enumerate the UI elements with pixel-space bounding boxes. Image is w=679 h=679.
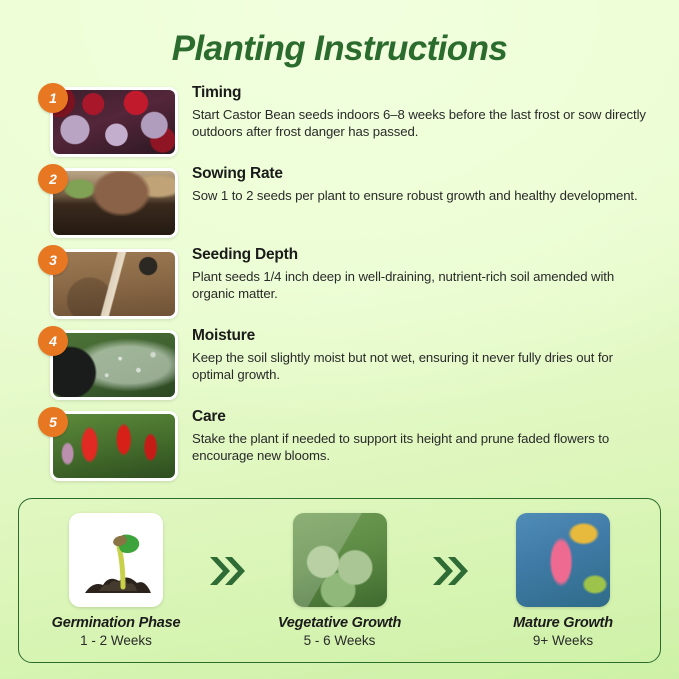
step-thumbnail-wrap-1: 1 (38, 87, 178, 157)
step-item-1: 1 Timing Start Castor Bean seeds indoors… (38, 83, 657, 157)
step-badge-4: 4 (38, 326, 68, 356)
step-heading-3: Seeding Depth (192, 246, 657, 264)
green-castor-leaves-photo (293, 513, 387, 607)
step-heading-2: Sowing Rate (192, 165, 657, 183)
step-thumbnail-wrap-3: 3 (38, 249, 178, 319)
step-text-3: Seeding Depth Plant seeds 1/4 inch deep … (192, 245, 657, 303)
step-badge-2: 2 (38, 164, 68, 194)
step-body-4: Keep the soil slightly moist but not wet… (192, 349, 657, 384)
step-thumbnail-5 (50, 411, 178, 481)
step-text-1: Timing Start Castor Bean seeds indoors 6… (192, 83, 657, 141)
step-body-1: Start Castor Bean seeds indoors 6–8 week… (192, 106, 657, 141)
step-badge-5: 5 (38, 407, 68, 437)
step-item-3: 3 Seeding Depth Plant seeds 1/4 inch dee… (38, 245, 657, 319)
step-text-5: Care Stake the plant if needed to suppor… (192, 407, 657, 465)
step-heading-4: Moisture (192, 327, 657, 345)
timeline-phase-name-1: Germination Phase (33, 614, 199, 632)
timeline-phase-name-2: Vegetative Growth (257, 614, 423, 632)
step-text-2: Sowing Rate Sow 1 to 2 seeds per plant t… (192, 164, 657, 205)
timeline-phase-name-3: Mature Growth (480, 614, 646, 632)
rake-in-soil-photo (53, 252, 175, 316)
step-thumbnail-wrap-2: 2 (38, 168, 178, 238)
timeline-phase-duration-3: 9+ Weeks (480, 633, 646, 650)
sprouting-seedling-photo (69, 513, 163, 607)
red-castor-flowers-photo (53, 414, 175, 478)
timeline-phase-duration-1: 1 - 2 Weeks (33, 633, 199, 650)
castor-bean-foliage-photo (53, 90, 175, 154)
step-text-4: Moisture Keep the soil slightly moist bu… (192, 326, 657, 384)
timeline-phase-2: Vegetative Growth 5 - 6 Weeks (257, 513, 423, 650)
timeline-phase-3: Mature Growth 9+ Weeks (480, 513, 646, 650)
step-badge-1: 1 (38, 83, 68, 113)
step-heading-5: Care (192, 408, 657, 426)
step-thumbnail-4 (50, 330, 178, 400)
step-thumbnail-3 (50, 249, 178, 319)
double-chevron-right-icon-1 (205, 554, 251, 588)
step-thumbnail-wrap-5: 5 (38, 411, 178, 481)
mature-castor-bloom-photo (516, 513, 610, 607)
hand-sowing-seed-photo (53, 171, 175, 235)
step-heading-1: Timing (192, 84, 657, 102)
step-item-4: 4 Moisture Keep the soil slightly moist … (38, 326, 657, 400)
step-body-5: Stake the plant if needed to support its… (192, 430, 657, 465)
timeline-phase-1: Germination Phase 1 - 2 Weeks (33, 513, 199, 650)
timeline-phase-duration-2: 5 - 6 Weeks (257, 633, 423, 650)
step-thumbnail-wrap-4: 4 (38, 330, 178, 400)
growth-timeline-panel: Germination Phase 1 - 2 Weeks Vegetative… (18, 498, 661, 663)
step-body-3: Plant seeds 1/4 inch deep in well-draini… (192, 268, 657, 303)
step-item-5: 5 Care Stake the plant if needed to supp… (38, 407, 657, 481)
sprinkler-watering-photo (53, 333, 175, 397)
step-item-2: 2 Sowing Rate Sow 1 to 2 seeds per plant… (38, 164, 657, 238)
planting-instructions-infographic: Planting Instructions 1 Timing Start Cas… (0, 0, 679, 679)
page-title: Planting Instructions (0, 0, 679, 69)
step-body-2: Sow 1 to 2 seeds per plant to ensure rob… (192, 187, 657, 205)
double-chevron-right-icon-2 (428, 554, 474, 588)
step-thumbnail-1 (50, 87, 178, 157)
steps-list: 1 Timing Start Castor Bean seeds indoors… (0, 83, 679, 481)
step-thumbnail-2 (50, 168, 178, 238)
step-badge-3: 3 (38, 245, 68, 275)
